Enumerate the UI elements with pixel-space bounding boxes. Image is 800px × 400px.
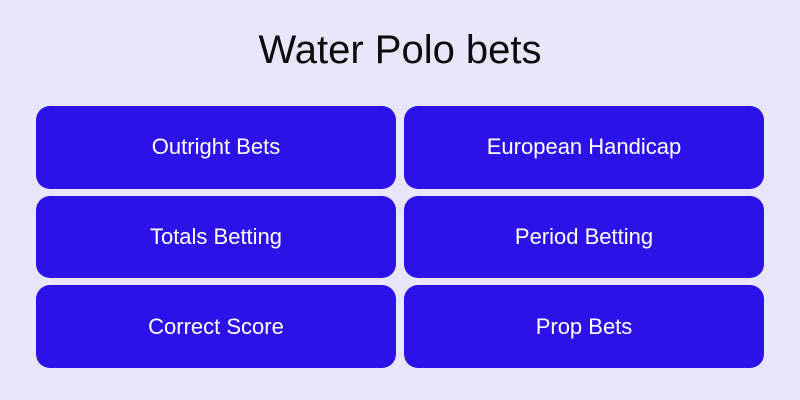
- bet-type-button-outright-bets[interactable]: Outright Bets: [36, 106, 396, 189]
- bet-type-button-european-handicap[interactable]: European Handicap: [404, 106, 764, 189]
- bet-type-button-period-betting[interactable]: Period Betting: [404, 196, 764, 279]
- page-title: Water Polo bets: [0, 26, 800, 74]
- bet-type-grid: Outright Bets European Handicap Totals B…: [36, 106, 764, 368]
- bet-type-button-totals-betting[interactable]: Totals Betting: [36, 196, 396, 279]
- bet-type-button-correct-score[interactable]: Correct Score: [36, 285, 396, 368]
- bet-types-page: Water Polo bets Outright Bets European H…: [0, 0, 800, 400]
- bet-type-button-prop-bets[interactable]: Prop Bets: [404, 285, 764, 368]
